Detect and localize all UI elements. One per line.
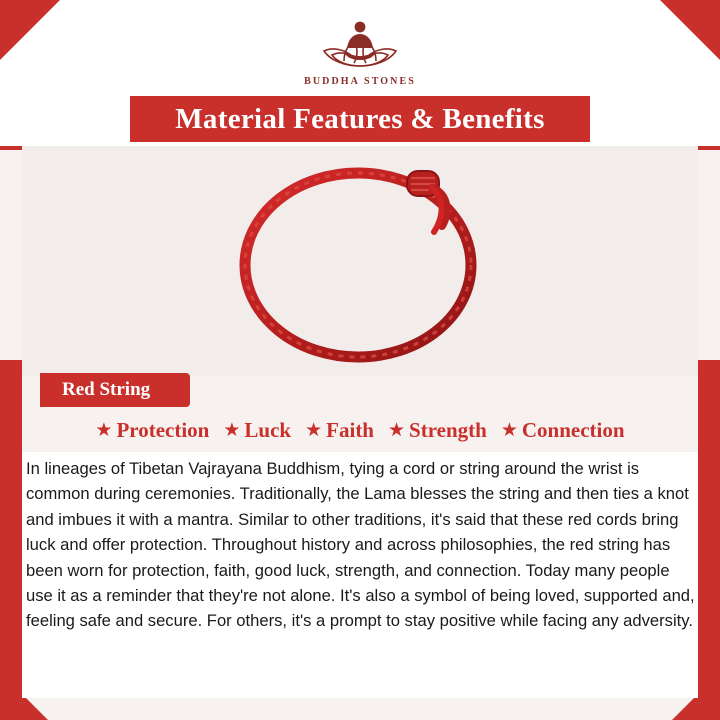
benefits-list: ★ Protection ★ Luck ★ Faith ★ Strength ★…	[22, 418, 698, 443]
product-label: Red String	[62, 379, 150, 401]
star-icon: ★	[501, 421, 518, 440]
star-icon: ★	[223, 421, 240, 440]
page-title: Material Features & Benefits	[175, 103, 544, 136]
brand-name: BUDDHA STONES	[0, 76, 720, 87]
frame-bar-left-bottom	[0, 360, 22, 720]
product-image-panel	[22, 146, 698, 376]
benefit-label: Faith	[326, 418, 374, 443]
benefit-item: ★ Strength	[388, 418, 487, 443]
star-icon: ★	[95, 421, 112, 440]
benefit-item: ★ Protection	[95, 418, 209, 443]
benefit-label: Luck	[244, 418, 291, 443]
description-text: In lineages of Tibetan Vajrayana Buddhis…	[26, 456, 698, 634]
benefit-label: Strength	[409, 418, 487, 443]
benefit-item: ★ Faith	[305, 418, 374, 443]
benefit-item: ★ Luck	[223, 418, 291, 443]
star-icon: ★	[305, 421, 322, 440]
frame-bar-right-bottom	[698, 360, 720, 720]
infographic-page: BUDDHA STONES Material Features & Benefi…	[0, 0, 720, 720]
benefit-label: Protection	[116, 418, 209, 443]
red-braided-string-bracelet-image	[210, 160, 510, 365]
benefit-label: Connection	[522, 418, 625, 443]
lotus-meditation-icon	[314, 16, 406, 74]
brand-logo: BUDDHA STONES	[0, 16, 720, 87]
product-label-ribbon: Red String	[40, 373, 190, 407]
page-title-banner: Material Features & Benefits	[130, 96, 590, 142]
benefit-item: ★ Connection	[501, 418, 625, 443]
star-icon: ★	[388, 421, 405, 440]
